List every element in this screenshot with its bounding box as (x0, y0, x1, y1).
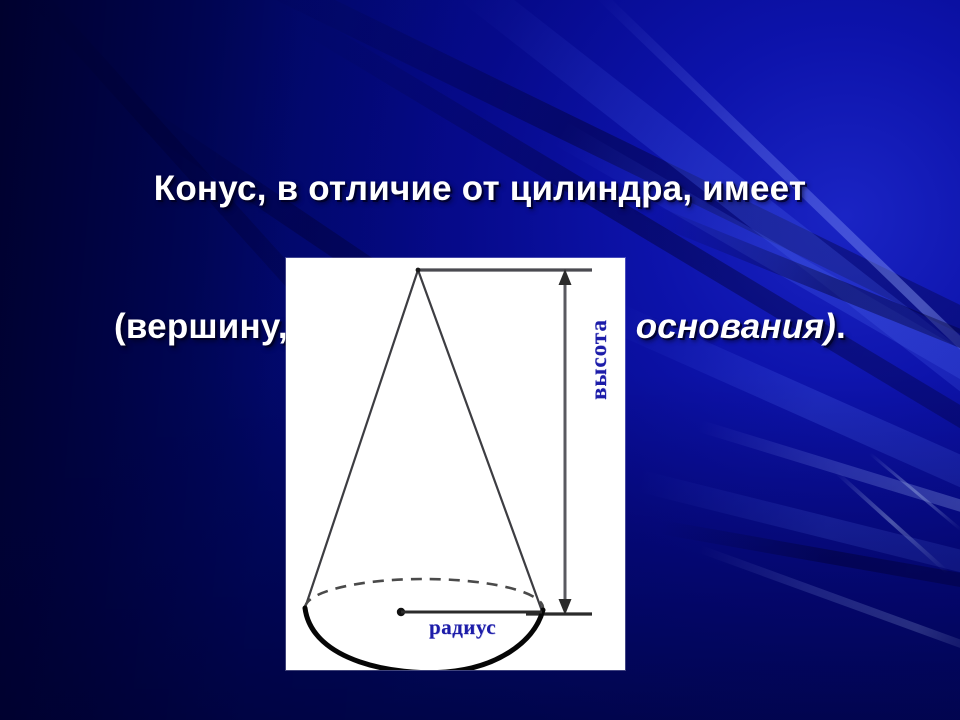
left-slant-line (305, 270, 418, 608)
title-line-2-prefix: (вершину, (114, 307, 308, 346)
slide-canvas: Конус, в отличие от цилиндра, имеет (вер… (0, 0, 960, 720)
radius-label: радиус (429, 615, 496, 640)
height-label: высота (586, 319, 612, 400)
height-dimension-arrow (559, 269, 572, 615)
apex-point (416, 268, 421, 273)
cone-diagram-panel: высота радиус (286, 258, 625, 670)
title-line-1: Конус, в отличие от цилиндра, имеет (0, 166, 960, 212)
cone-figure-svg (286, 258, 625, 670)
base-ellipse-dashed-top (305, 579, 543, 608)
right-slant-line (418, 270, 542, 611)
title-line-2-suffix: . (836, 307, 846, 346)
base-arc-solid-bottom (305, 608, 543, 670)
